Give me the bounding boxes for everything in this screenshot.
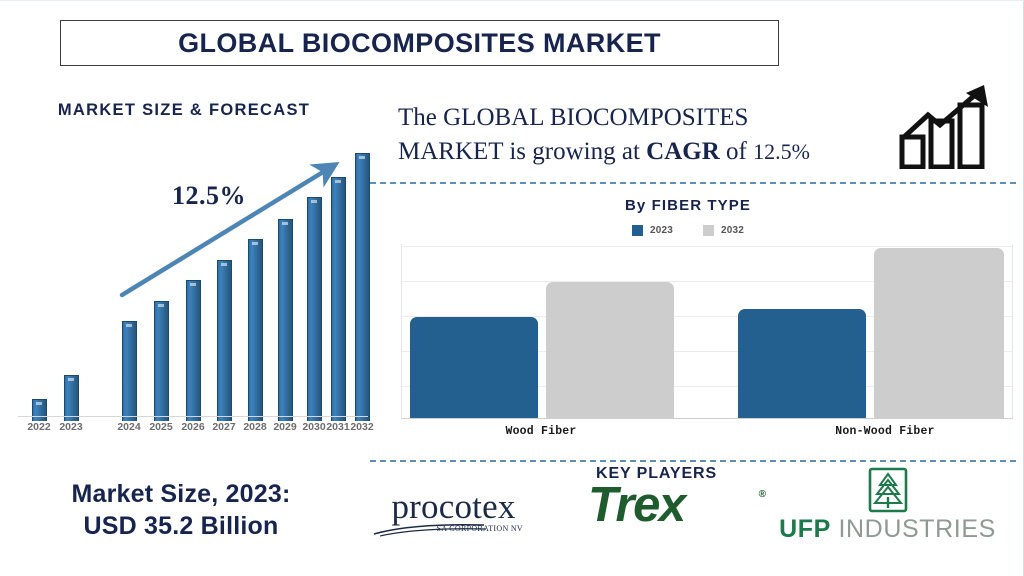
ufp-wordmark: UFP INDUSTRIES <box>745 515 1024 544</box>
forecast-year-label: 2025 <box>144 421 178 433</box>
procotex-swoosh-icon <box>372 523 492 537</box>
forecast-bar-2030 <box>307 197 322 421</box>
market-size-forecast-panel: MARKET SIZE & FORECAST 12.5% <box>0 81 368 481</box>
headline-cagr-value: 12.5% <box>753 139 810 164</box>
trex-wordmark: Trex <box>588 478 685 532</box>
legend-label: 2032 <box>721 225 744 236</box>
forecast-bar-chart <box>0 81 368 421</box>
fiber-type-bar-chart <box>401 244 1013 419</box>
legend-entry-2023: 2023 <box>632 225 673 236</box>
headline-cagr: CAGR <box>646 138 720 165</box>
forecast-bar-2023 <box>64 375 79 421</box>
forecast-cagr-annotation: 12.5% <box>172 181 246 211</box>
legend-label: 2023 <box>650 225 673 236</box>
procotex-wordmark: procotex <box>366 489 541 526</box>
fiber-category-label-nonwood: Non-Wood Fiber <box>805 425 965 438</box>
market-size-line-1: Market Size, 2023: <box>0 479 362 511</box>
legend-entry-2032: 2032 <box>703 225 744 236</box>
forecast-bar-2028 <box>248 239 263 421</box>
logo-ufp-industries: UFP INDUSTRIES <box>745 467 1024 545</box>
forecast-bar-2029 <box>278 219 293 421</box>
logo-trex: Trex ® <box>588 481 768 535</box>
forecast-year-label: 2028 <box>238 421 272 433</box>
forecast-axis-line <box>18 416 368 417</box>
forecast-bar-2024 <box>122 321 137 421</box>
ufp-word-light: INDUSTRIES <box>831 515 996 543</box>
divider-top <box>370 182 1016 184</box>
forecast-year-label: 2023 <box>54 421 88 433</box>
forecast-bar-2025 <box>154 301 169 421</box>
ufp-tree-icon <box>866 467 910 513</box>
fiber-bar-nonwood-2023 <box>738 309 866 418</box>
bar-chart-growth-icon <box>898 83 998 169</box>
legend-swatch-icon <box>632 225 643 236</box>
legend-swatch-icon <box>703 225 714 236</box>
headline-statement: The GLOBAL BIOCOMPOSITES MARKET is growi… <box>398 101 918 169</box>
logo-procotex: procotex SA CORPORATION NV <box>366 489 541 545</box>
forecast-bar-2022 <box>32 399 47 421</box>
infographic-root: GLOBAL BIOCOMPOSITES MARKET MARKET SIZE … <box>0 0 1024 576</box>
fiber-category-label-wood: Wood Fiber <box>477 425 605 438</box>
fiber-type-legend: 2023 2032 <box>368 225 1008 236</box>
headline-line-1: The GLOBAL BIOCOMPOSITES <box>398 101 918 135</box>
headline-of: of <box>720 138 753 165</box>
fiber-bar-nonwood-2032 <box>874 248 1004 418</box>
headline-prefix: MARKET is growing at <box>398 138 646 165</box>
forecast-bar-2026 <box>186 280 201 421</box>
divider-bottom <box>370 460 1016 462</box>
forecast-axis-labels: 2022 2023 2024 2025 2026 2027 2028 2029 … <box>0 421 368 441</box>
headline-line-2: MARKET is growing at CAGR of 12.5% <box>398 135 918 169</box>
fiber-plot-area <box>402 244 1012 418</box>
ufp-word-bold: UFP <box>779 515 831 543</box>
market-size-line-2: USD 35.2 Billion <box>0 511 362 543</box>
fiber-category-labels: Wood Fiber Non-Wood Fiber <box>401 425 1013 443</box>
fiber-type-title: By FIBER TYPE <box>368 197 1008 214</box>
fiber-bar-wood-2023 <box>410 317 538 418</box>
forecast-year-label: 2027 <box>207 421 241 433</box>
fiber-bar-wood-2032 <box>546 282 674 418</box>
forecast-bar-2031 <box>331 177 346 421</box>
forecast-year-label: 2026 <box>176 421 210 433</box>
forecast-year-label: 2024 <box>112 421 146 433</box>
forecast-bar-2027 <box>217 260 232 421</box>
forecast-year-label: 2022 <box>22 421 56 433</box>
market-size-callout: Market Size, 2023: USD 35.2 Billion <box>0 479 362 543</box>
